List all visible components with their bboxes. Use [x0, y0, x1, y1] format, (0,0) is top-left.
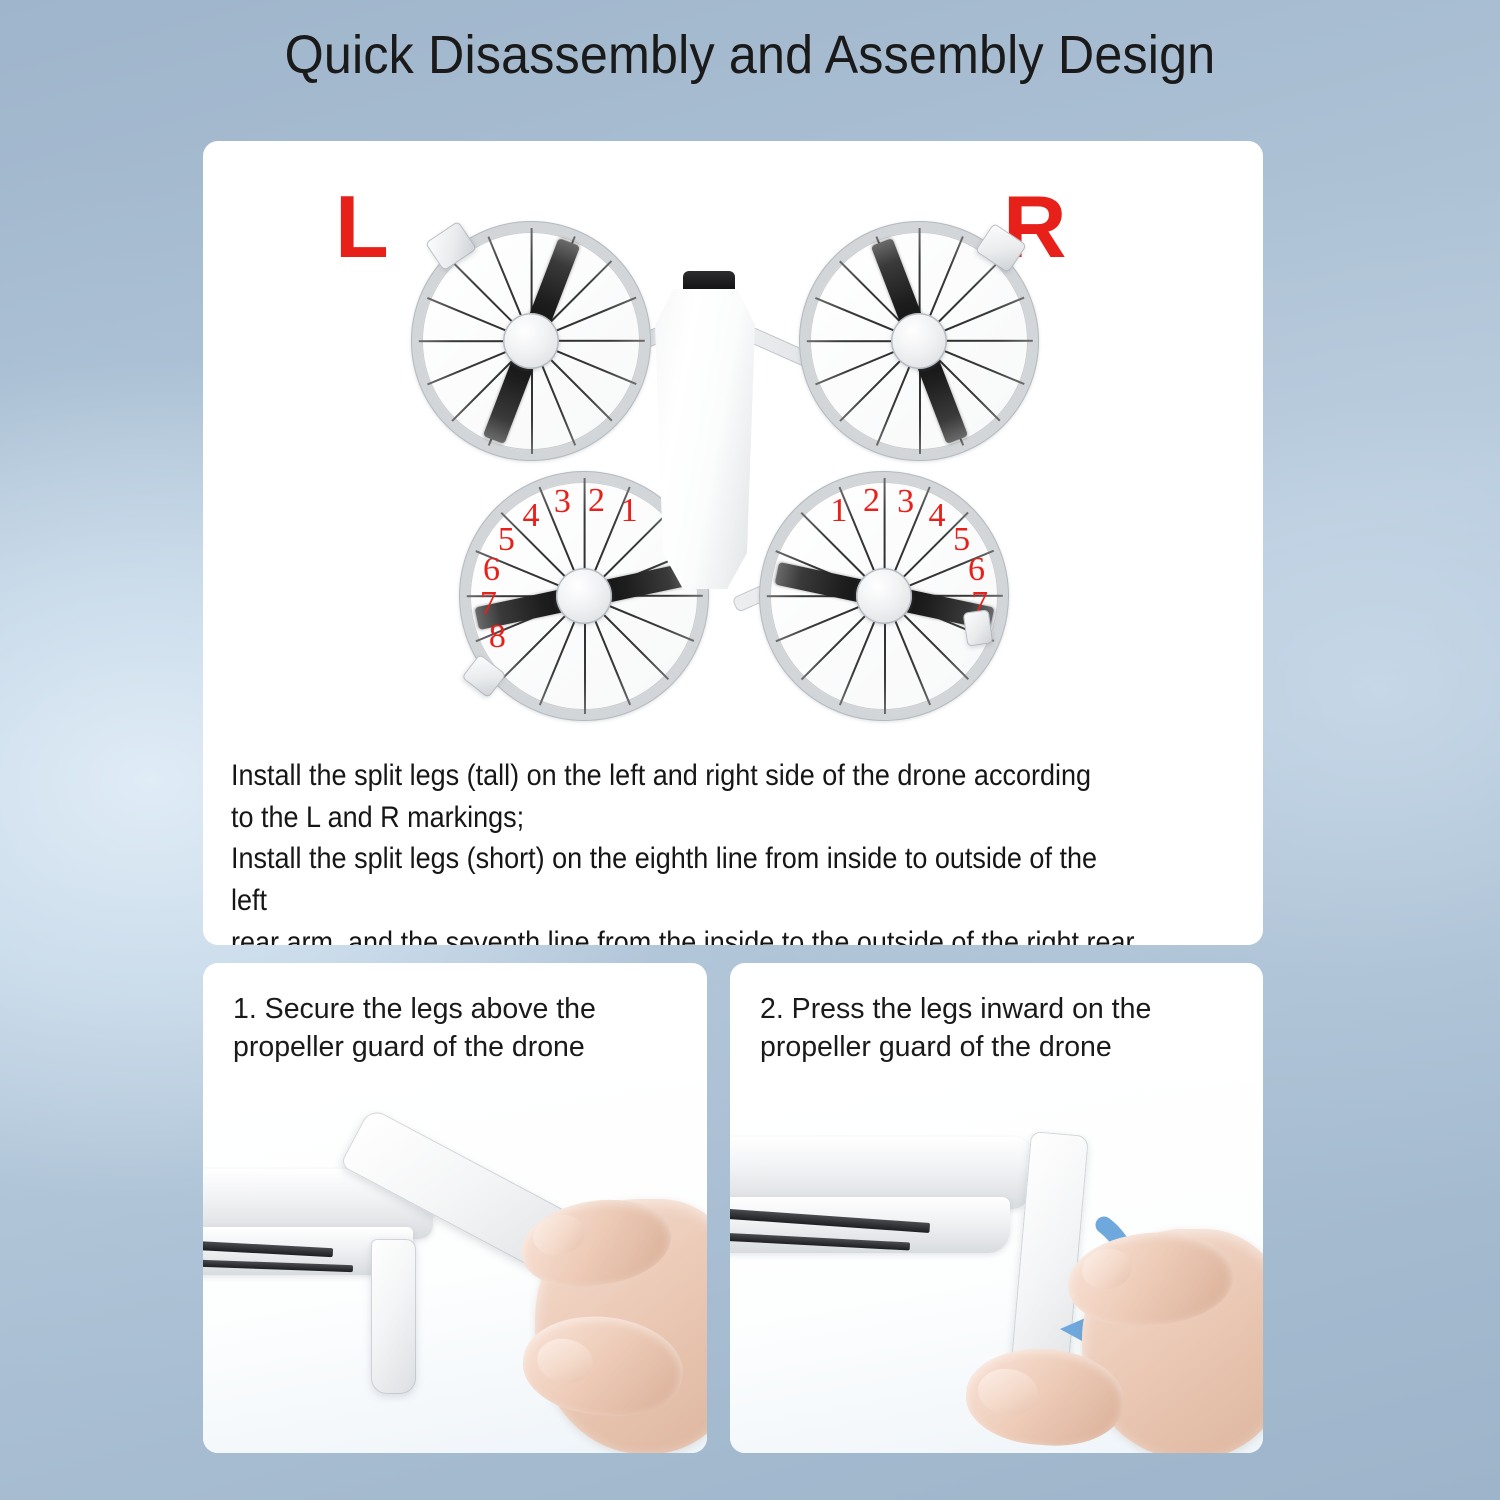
guard-number-label: 4: [523, 499, 540, 533]
propeller-hub: [856, 568, 912, 624]
guard-number-label: 6: [483, 553, 500, 587]
guard-number-label: 2: [588, 484, 605, 518]
left-side-marker: L: [335, 183, 389, 271]
guard-number-label: 5: [498, 523, 515, 557]
step-2-card: 2. Press the legs inward on the propelle…: [730, 963, 1263, 1453]
step-1-card: 1. Secure the legs above the propeller g…: [203, 963, 707, 1453]
drone-body: [655, 289, 755, 589]
propeller-hub: [556, 568, 612, 624]
propeller-hub: [503, 313, 559, 369]
drone-leg-standing: [371, 1239, 416, 1394]
step-2-caption: 2. Press the legs inward on the propelle…: [760, 991, 1200, 1067]
drone-diagram: L R 12: [203, 141, 1263, 751]
guard-number-label: 6: [968, 553, 985, 587]
propeller-hub: [891, 313, 947, 369]
guard-number-label: 1: [830, 494, 847, 528]
guard-number-label: 3: [897, 485, 914, 519]
guard-number-label: 2: [863, 484, 880, 518]
guard-number-label: 8: [489, 620, 506, 654]
propeller-guard-rear-right: 1234567: [759, 471, 1009, 721]
assembly-instructions-text: Install the split legs (tall) on the lef…: [231, 755, 1140, 945]
leg-mount-tab-rear-right: [963, 609, 993, 646]
guard-number-label: 7: [480, 587, 497, 621]
step-2-photo: [730, 1081, 1263, 1453]
main-diagram-card: L R 12: [203, 141, 1263, 945]
guard-number-label: 1: [621, 494, 638, 528]
guard-number-label: 3: [554, 485, 571, 519]
step-1-caption: 1. Secure the legs above the propeller g…: [233, 991, 673, 1067]
step-1-photo: [203, 1081, 707, 1453]
page-title: Quick Disassembly and Assembly Design: [53, 26, 1448, 85]
guard-number-label: 4: [928, 499, 945, 533]
